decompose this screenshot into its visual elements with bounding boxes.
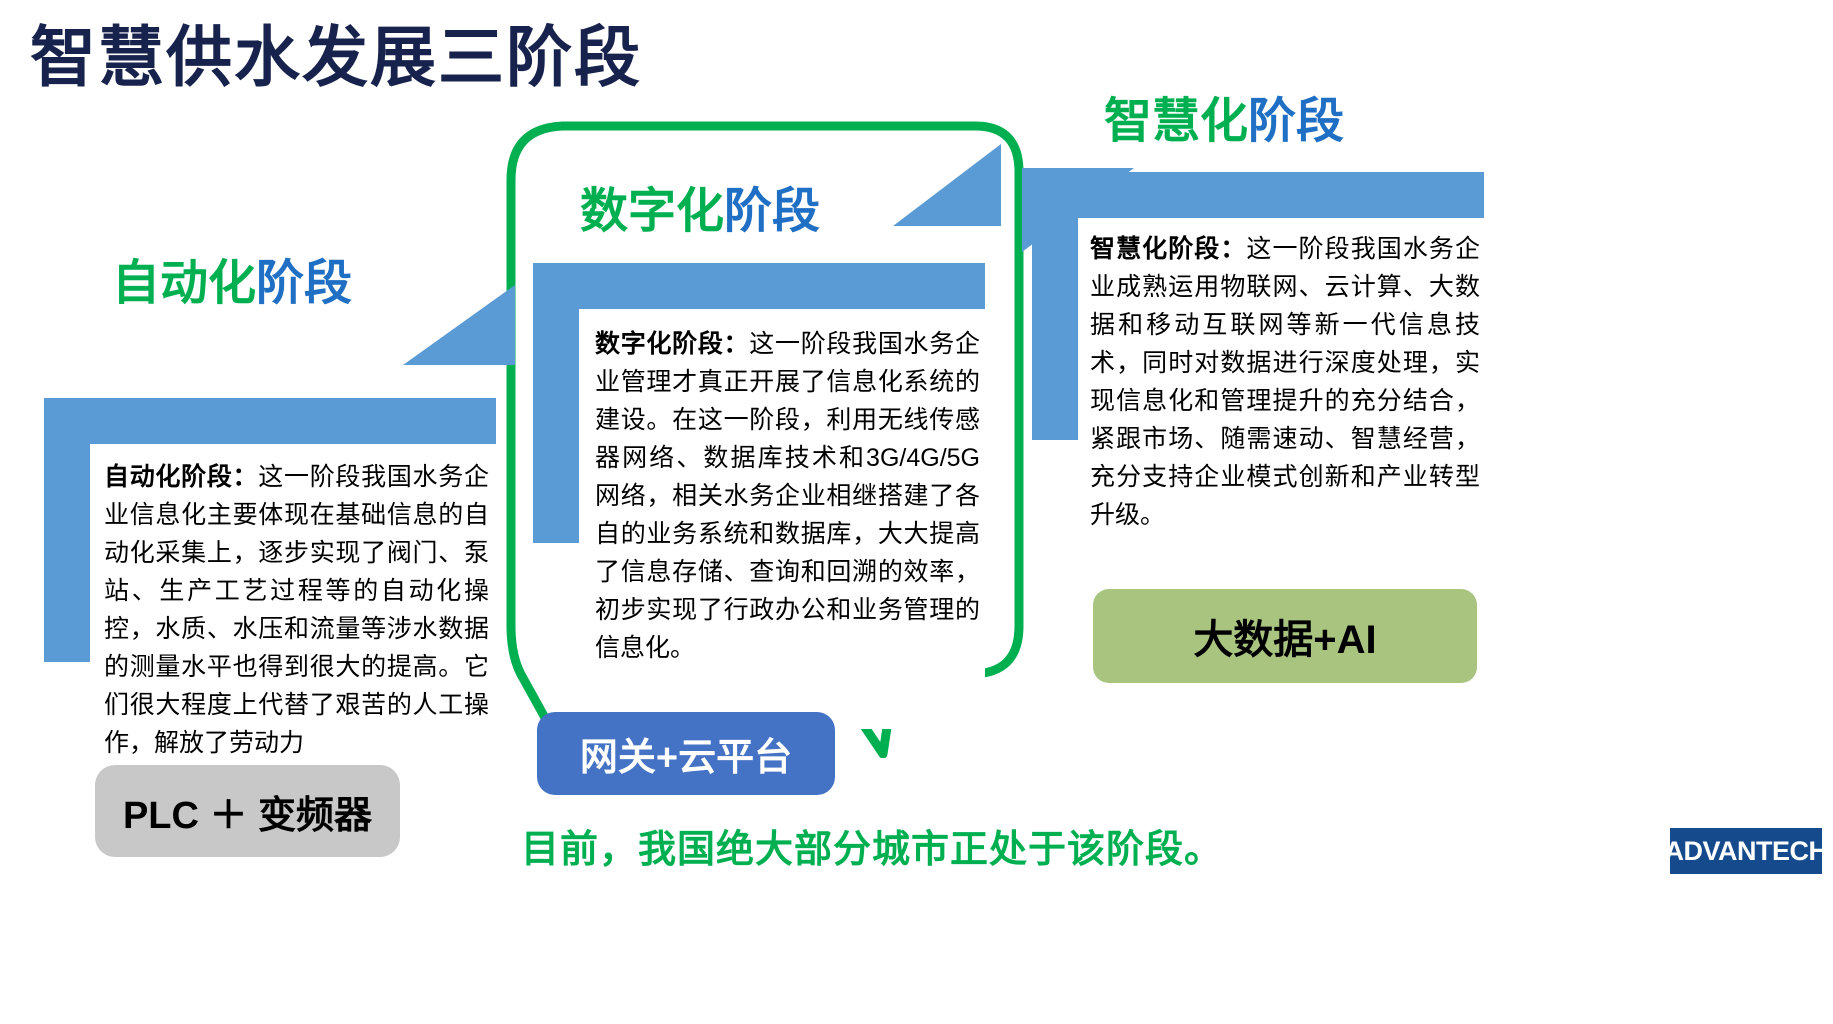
stage-heading-digital: 数字化阶段 (580, 186, 820, 239)
stage-heading-digital-highlight: 数字化 (580, 185, 724, 238)
card-smart: 智慧化阶段：这一阶段我国水务企业成熟运用物联网、云计算、大数据和移动互联网等新一… (1032, 172, 1484, 440)
pill-plc-label: PLC ＋ 变频器 (123, 784, 372, 839)
digital-card-body: 这一阶段我国水务企业管理才真正开展了信息化系统的建设。在这一阶段，利用无线传感器… (595, 330, 980, 662)
smart-card-label: 智慧化阶段： (1090, 235, 1246, 263)
advantech-logo: ADVANTECH (1670, 828, 1822, 874)
stage-heading-automation-sub: 阶段 (256, 257, 352, 310)
digital-triangle-tail (893, 144, 1001, 226)
stage-heading-smart-sub: 阶段 (1248, 95, 1344, 148)
stage-heading-digital-sub: 阶段 (724, 185, 820, 238)
card-digital: 数字化阶段：这一阶段我国水务企业管理才真正开展了信息化系统的建设。在这一阶段，利… (533, 263, 985, 543)
page-title: 智慧供水发展三阶段 (30, 20, 642, 96)
pill-plc-inverter[interactable]: PLC ＋ 变频器 (95, 765, 400, 857)
slide-canvas: 智慧供水发展三阶段 自动化阶段 自动化阶段：这一阶段我国水务企业信息化主要体现在… (0, 0, 1833, 1024)
automation-card-text: 自动化阶段：这一阶段我国水务企业信息化主要体现在基础信息的自动化采集上，逐步实现… (104, 458, 489, 762)
digital-card-label: 数字化阶段： (595, 330, 749, 358)
pill-gateway-label: 网关+云平台 (580, 726, 792, 781)
stage-heading-automation-highlight: 自动化 (112, 257, 256, 310)
automation-card-label: 自动化阶段： (104, 463, 258, 491)
pill-gateway-cloud[interactable]: 网关+云平台 (537, 712, 835, 795)
stage-heading-automation: 自动化阶段 (112, 258, 352, 311)
card-automation: 自动化阶段：这一阶段我国水务企业信息化主要体现在基础信息的自动化采集上，逐步实现… (44, 398, 496, 662)
automation-card-body: 这一阶段我国水务企业信息化主要体现在基础信息的自动化采集上，逐步实现了阀门、泵站… (104, 463, 489, 757)
smart-card-body: 这一阶段我国水务企业成熟运用物联网、云计算、大数据和移动互联网等新一代信息技术，… (1090, 235, 1480, 529)
footer-note: 目前，我国绝大部分城市正处于该阶段。 (521, 818, 1223, 873)
pill-bigdata-label: 大数据+AI (1193, 607, 1376, 665)
stage-heading-smart-highlight: 智慧化 (1104, 95, 1248, 148)
smart-card-text: 智慧化阶段：这一阶段我国水务企业成熟运用物联网、云计算、大数据和移动互联网等新一… (1090, 230, 1480, 534)
pill-bigdata-ai[interactable]: 大数据+AI (1093, 589, 1477, 683)
stage-heading-smart: 智慧化阶段 (1104, 96, 1344, 149)
advantech-logo-text: ADVANTECH (1665, 836, 1828, 867)
automation-triangle-tail (403, 285, 515, 365)
digital-card-text: 数字化阶段：这一阶段我国水务企业管理才真正开展了信息化系统的建设。在这一阶段，利… (595, 325, 980, 667)
